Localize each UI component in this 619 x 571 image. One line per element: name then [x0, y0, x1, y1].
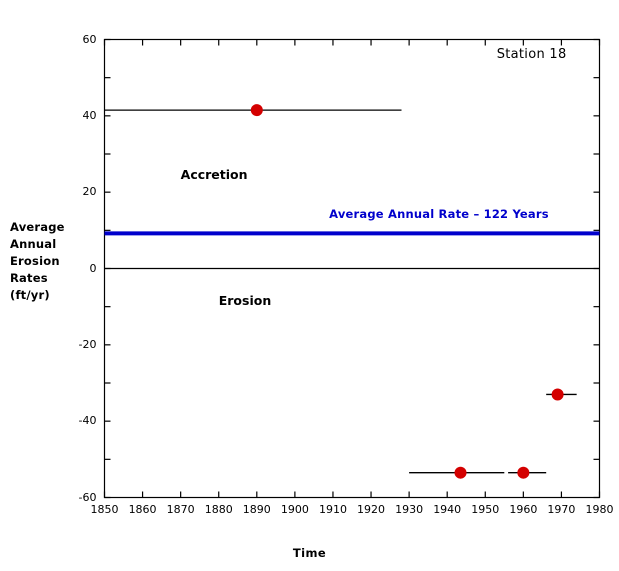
- x-tick-label: 1890: [237, 503, 277, 516]
- region-label-erosion: Erosion: [219, 293, 272, 308]
- x-tick-label: 1980: [580, 503, 619, 516]
- x-tick-label: 1920: [351, 503, 391, 516]
- x-tick-label: 1850: [85, 503, 125, 516]
- x-tick-label: 1910: [313, 503, 353, 516]
- erosion-rate-chart: Average Annual Erosion Rates (ft/yr) Tim…: [0, 0, 619, 571]
- x-tick-label: 1960: [503, 503, 543, 516]
- y-tick-label: 20: [63, 185, 97, 198]
- x-tick-label: 1930: [389, 503, 429, 516]
- y-tick-label: 40: [63, 109, 97, 122]
- plot-area: [0, 0, 619, 571]
- x-tick-label: 1870: [161, 503, 201, 516]
- y-tick-label: -40: [63, 414, 97, 427]
- reference-line-label: Average Annual Rate – 122 Years: [329, 207, 549, 221]
- x-tick-label: 1880: [199, 503, 239, 516]
- x-tick-label: 1970: [541, 503, 581, 516]
- region-label-accretion: Accretion: [181, 167, 248, 182]
- y-tick-label: 0: [63, 262, 97, 275]
- x-tick-label: 1940: [427, 503, 467, 516]
- station-label: Station 18: [497, 47, 567, 62]
- x-tick-label: 1950: [465, 503, 505, 516]
- y-tick-label: -20: [63, 338, 97, 351]
- data-markers: [251, 104, 564, 479]
- data-segments: [105, 110, 577, 473]
- x-tick-label: 1900: [275, 503, 315, 516]
- y-tick-label: 60: [63, 33, 97, 46]
- x-tick-label: 1860: [123, 503, 163, 516]
